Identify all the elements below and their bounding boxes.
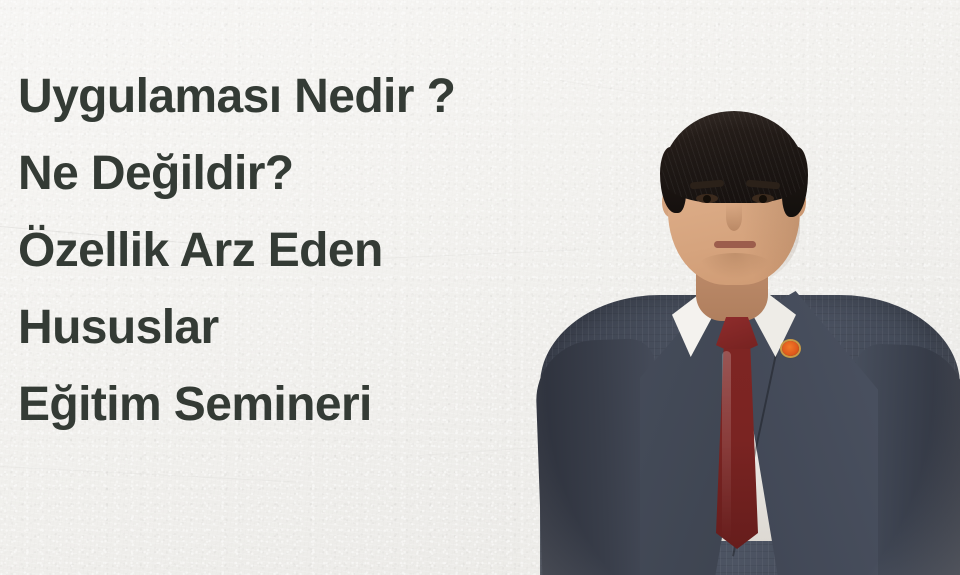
chin-shading — [698, 253, 772, 279]
headline-line-2: Ne Değildir? — [18, 135, 455, 212]
poster-canvas: Uygulaması Nedir ? Ne Değildir? Özellik … — [0, 0, 960, 575]
pupil-right — [759, 195, 767, 203]
headline-line-4: Hususlar — [18, 289, 455, 366]
headline-line-1: Uygulaması Nedir ? — [18, 58, 455, 135]
pupil-left — [703, 195, 711, 203]
necktie-highlight — [722, 351, 731, 541]
headline-line-3: Özellik Arz Eden — [18, 212, 455, 289]
nose — [726, 203, 742, 231]
portrait-man-in-suit — [520, 95, 960, 575]
headline-block: Uygulaması Nedir ? Ne Değildir? Özellik … — [18, 58, 455, 443]
mouth — [714, 241, 756, 248]
hair-texture — [662, 111, 806, 203]
headline-line-5: Eğitim Semineri — [18, 366, 455, 443]
lapel-pin-icon — [782, 341, 799, 356]
